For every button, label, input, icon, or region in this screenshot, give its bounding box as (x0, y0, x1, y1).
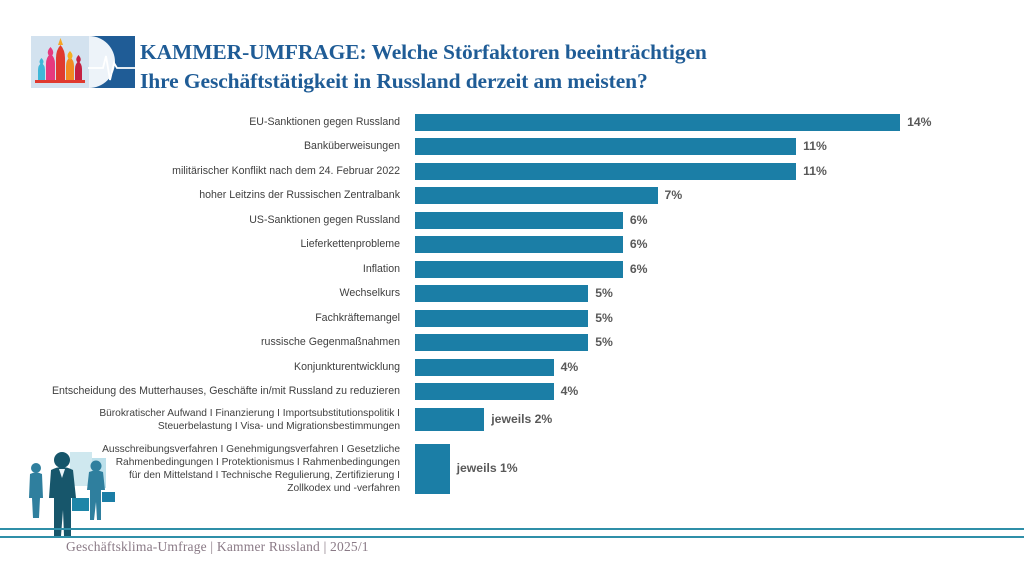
category-label: Inflation (10, 263, 400, 276)
category-label: Fachkräftemangel (10, 312, 400, 325)
bar-chart: EU-Sanktionen gegen Russland14%Banküberw… (0, 112, 1024, 507)
bar-value-label: 6% (630, 213, 648, 227)
bar-value-label: 6% (630, 237, 648, 251)
chart-row: Ausschreibungsverfahren I Genehmigungsve… (0, 444, 1024, 494)
chart-bar[interactable] (415, 187, 658, 204)
chart-bar[interactable] (415, 163, 796, 180)
category-label: Lieferkettenprobleme (10, 238, 400, 251)
category-label: russische Gegenmaßnahmen (10, 336, 400, 349)
chart-row: Wechselkurs5% (0, 285, 1024, 302)
category-label: Entscheidung des Mutterhauses, Geschäfte… (10, 385, 400, 398)
slide-header: KAMMER-UMFRAGE: Welche Störfaktoren beei… (0, 0, 1024, 106)
bar-value-label: 4% (561, 360, 579, 374)
category-label: Wechselkurs (10, 287, 400, 300)
chart-row: hoher Leitzins der Russischen Zentralban… (0, 187, 1024, 204)
chart-bar[interactable] (415, 138, 796, 155)
kammer-russland-logo (31, 36, 135, 88)
footer-caption: Geschäftsklima-Umfrage | Kammer Russland… (66, 539, 369, 555)
chart-bar[interactable] (415, 383, 554, 400)
slide-canvas: KAMMER-UMFRAGE: Welche Störfaktoren beei… (0, 0, 1024, 576)
chart-row: Banküberweisungen11% (0, 138, 1024, 155)
bar-value-label: jeweils 1% (457, 461, 518, 475)
page-title-line-2: Ihre Geschäftstätigkeit in Russland derz… (140, 67, 970, 96)
bar-value-label: 5% (595, 286, 613, 300)
chart-bar[interactable] (415, 359, 554, 376)
bar-value-label: 6% (630, 262, 648, 276)
footer-rule-bottom (0, 536, 1024, 538)
chart-bar[interactable] (415, 236, 623, 253)
bar-value-label: 5% (595, 311, 613, 325)
category-label: militärischer Konflikt nach dem 24. Febr… (10, 165, 400, 178)
chart-row: Inflation6% (0, 261, 1024, 278)
category-label: US-Sanktionen gegen Russland (10, 214, 400, 227)
bar-value-label: 5% (595, 335, 613, 349)
category-label: hoher Leitzins der Russischen Zentralban… (10, 189, 400, 202)
page-title: KAMMER-UMFRAGE: Welche Störfaktoren beei… (140, 38, 970, 96)
bar-value-label: 4% (561, 384, 579, 398)
chart-bar[interactable] (415, 408, 484, 431)
business-people-silhouette (18, 440, 136, 538)
category-label: Bürokratischer Aufwand I Finanzierung I … (10, 407, 400, 433)
chart-bar[interactable] (415, 334, 588, 351)
bar-value-label: 14% (907, 115, 931, 129)
chart-row: Konjunkturentwicklung4% (0, 359, 1024, 376)
chart-row: US-Sanktionen gegen Russland6% (0, 212, 1024, 229)
page-title-line-1: KAMMER-UMFRAGE: Welche Störfaktoren beei… (140, 38, 970, 67)
category-label: Banküberweisungen (10, 140, 400, 153)
chart-bar[interactable] (415, 444, 450, 494)
chart-row: EU-Sanktionen gegen Russland14% (0, 114, 1024, 131)
bar-value-label: jeweils 2% (491, 412, 552, 426)
chart-bar[interactable] (415, 261, 623, 278)
category-label: Konjunkturentwicklung (10, 361, 400, 374)
footer-rule-top (0, 528, 1024, 530)
chart-bar[interactable] (415, 212, 623, 229)
bar-value-label: 11% (803, 164, 827, 178)
chart-row: militärischer Konflikt nach dem 24. Febr… (0, 163, 1024, 180)
chart-bar[interactable] (415, 114, 900, 131)
chart-row: russische Gegenmaßnahmen5% (0, 334, 1024, 351)
bar-value-label: 11% (803, 139, 827, 153)
chart-bar[interactable] (415, 310, 588, 327)
chart-row: Bürokratischer Aufwand I Finanzierung I … (0, 408, 1024, 431)
bar-value-label: 7% (665, 188, 683, 202)
chart-row: Fachkräftemangel5% (0, 310, 1024, 327)
category-label: EU-Sanktionen gegen Russland (10, 116, 400, 129)
chart-bar[interactable] (415, 285, 588, 302)
chart-row: Entscheidung des Mutterhauses, Geschäfte… (0, 383, 1024, 400)
chart-row: Lieferkettenprobleme6% (0, 236, 1024, 253)
